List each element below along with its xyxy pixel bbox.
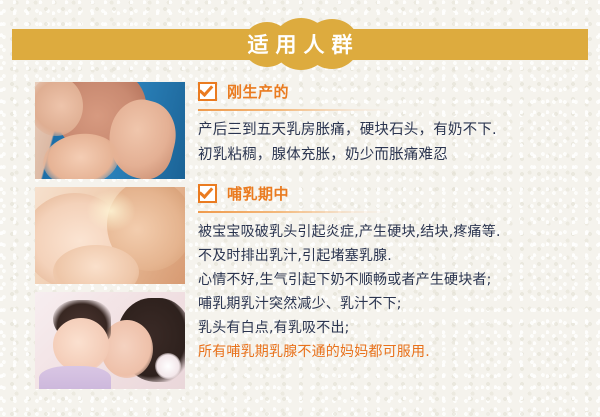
checkbox-checked-icon	[198, 82, 217, 101]
header-banner: 适用人群	[0, 18, 600, 70]
section-1-underline	[198, 109, 390, 111]
section-2-heading: 哺乳期中	[227, 183, 289, 204]
text-column: 刚生产的 产后三到五天乳房胀痛，硬块石头，有奶不下. 初乳粘稠，腺体充胀，奶少而…	[198, 78, 596, 368]
photo-flower-decoration	[155, 353, 181, 379]
section-1-line-1: 产后三到五天乳房胀痛，硬块石头，有奶不下.	[198, 118, 596, 143]
photo-breastfeeding-highlight	[87, 191, 135, 231]
section-2-line-1: 被宝宝吸破乳头引起炎症,产生硬块,结块,疼痛等.	[198, 220, 596, 244]
section-1-heading-row: 刚生产的	[198, 78, 596, 104]
photo-column	[35, 82, 185, 397]
section-2-line-2: 不及时排出乳汁,引起堵塞乳腺.	[198, 244, 596, 268]
photo-toddler-face	[53, 318, 109, 372]
section-just-delivered: 刚生产的 产后三到五天乳房胀痛，硬块石头，有奶不下. 初乳粘稠，腺体充胀，奶少而…	[198, 78, 596, 168]
section-2-heading-row: 哺乳期中	[198, 180, 596, 206]
section-2-line-6-highlighted: 所有哺乳期乳腺不通的妈妈都可服用.	[198, 340, 596, 364]
photo-toddler-shirt	[39, 366, 111, 389]
section-2-line-4: 哺乳期乳汁突然减少、乳汁不下;	[198, 292, 596, 316]
section-2-underline	[198, 211, 390, 213]
section-1-line-2: 初乳粘稠，腺体充胀，奶少而胀痛难忍	[198, 143, 596, 168]
section-1-heading: 刚生产的	[227, 81, 289, 102]
section-2-line-3: 心情不好,生气引起下奶不顺畅或者产生硬块者;	[198, 268, 596, 292]
section-during-lactation: 哺乳期中 被宝宝吸破乳头引起炎症,产生硬块,结块,疼痛等. 不及时排出乳汁,引起…	[198, 180, 596, 364]
photo-mother-kissing-toddler	[35, 292, 185, 389]
photo-newborn	[35, 82, 185, 179]
content-area: 刚生产的 产后三到五天乳房胀痛，硬块石头，有奶不下. 初乳粘稠，腺体充胀，奶少而…	[0, 78, 600, 408]
checkbox-checked-icon	[198, 184, 217, 203]
page-title: 适用人群	[0, 18, 600, 70]
photo-breastfeeding	[35, 187, 185, 284]
section-2-line-5: 乳头有白点,有乳吸不出;	[198, 316, 596, 340]
